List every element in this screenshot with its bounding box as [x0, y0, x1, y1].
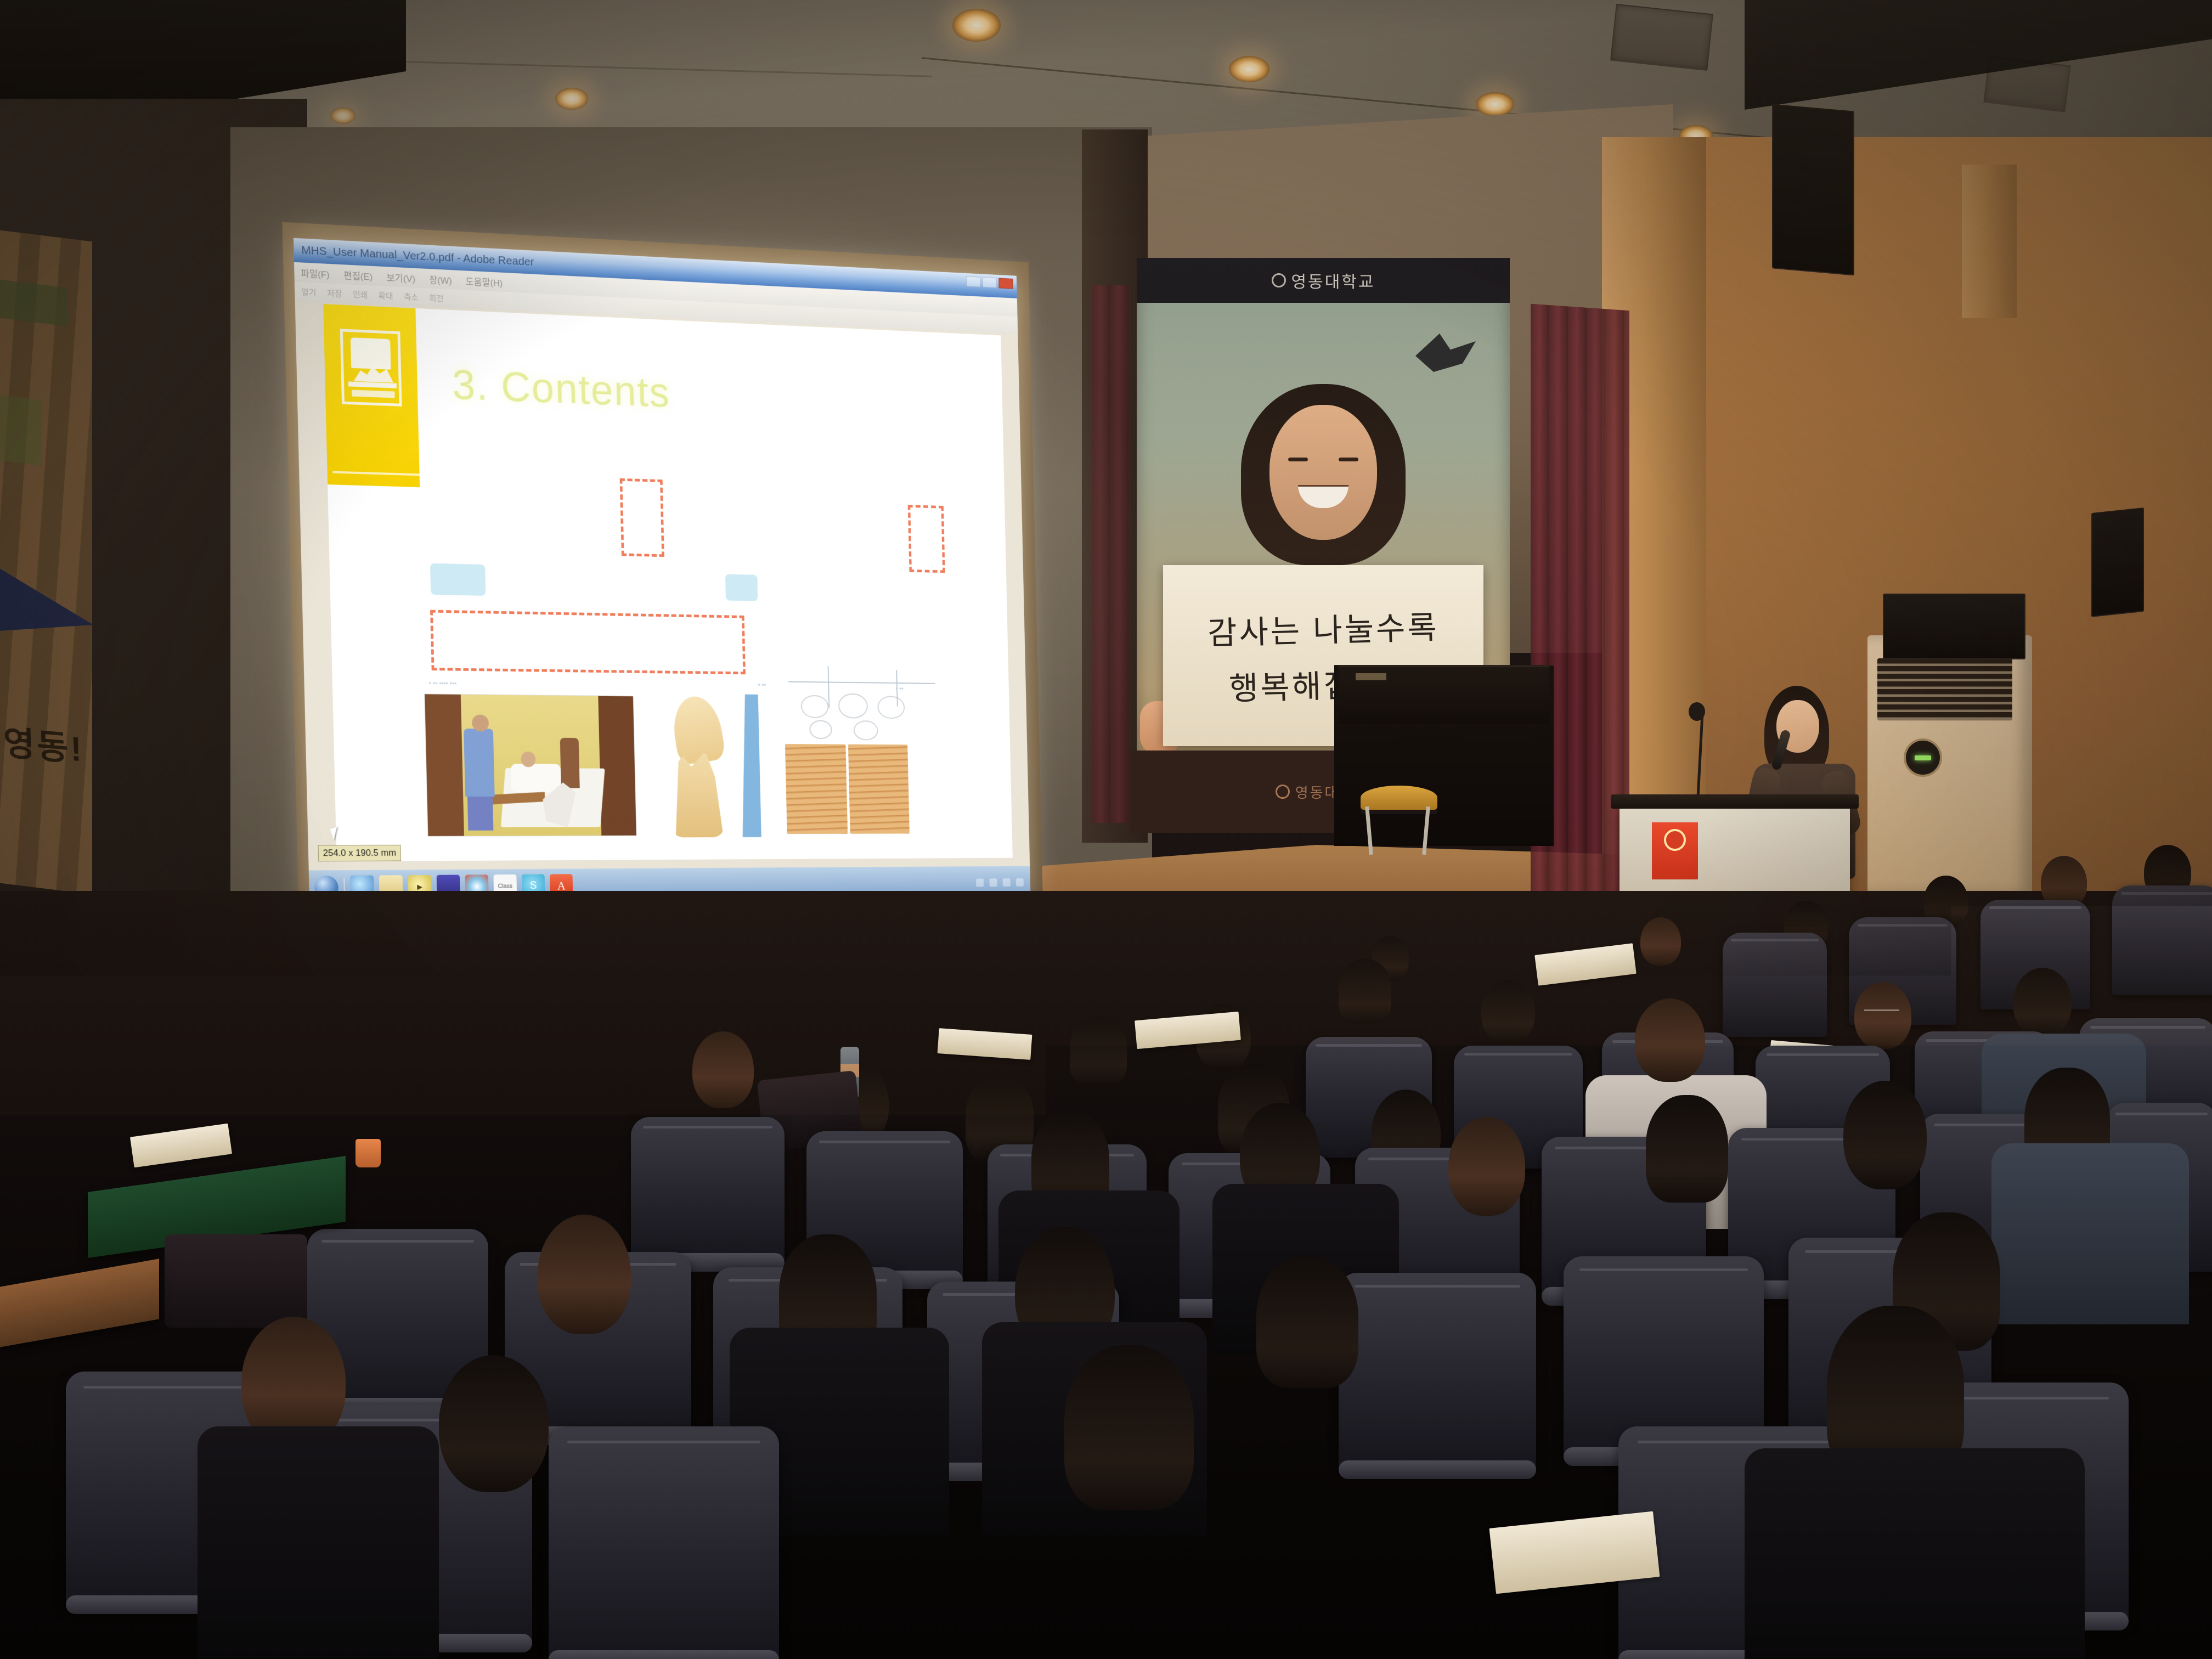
mosaic-label: 영동! [2, 715, 84, 771]
row-body-video: Skill 별 절차 수행과 관련한 동영상 플래시 자료 제공 [515, 859, 842, 861]
audience-head [1646, 1095, 1728, 1203]
banner-university-name: 영동대학교 [1291, 268, 1375, 292]
piano-brand-badge [1356, 673, 1386, 680]
row-label-video: 영상 학습 [435, 861, 498, 862]
ceiling-air-vent [1610, 4, 1713, 71]
toolbar-open-button[interactable]: 열기 [301, 286, 317, 298]
stage-curtain-left [1092, 285, 1130, 823]
ceiling-speaker [1772, 104, 1854, 275]
shield-icon[interactable] [1003, 878, 1011, 887]
menu-item-help[interactable]: 도움말(H) [465, 274, 503, 289]
audience-shoulders [198, 1426, 439, 1659]
ac-display-panel [1904, 738, 1942, 777]
audience-seat[interactable] [631, 1117, 785, 1265]
slide-subcaption: ▪ ▪▪ ▪▪▪▪ ▪▪▪ [428, 679, 456, 687]
audience-head [1070, 1016, 1127, 1086]
blue-highlight-right [725, 574, 758, 601]
audience-seat[interactable] [2112, 885, 2212, 995]
page-size-tooltip: 254.0 x 190.5 mm [318, 845, 401, 861]
window-controls [966, 276, 1013, 289]
menu-item-view[interactable]: 보기(V) [386, 270, 415, 285]
podium-surface [1611, 794, 1859, 809]
slide-title: 3. Contents [452, 360, 670, 417]
blue-highlight-left [430, 563, 486, 596]
university-mark-icon [1276, 785, 1290, 799]
dash-box-center [620, 478, 664, 557]
ceiling-downlight [952, 9, 1001, 42]
diagram-label-a: ▪ ▪▪ [758, 681, 766, 689]
wall-recess-dark [1883, 594, 2025, 659]
volume-icon[interactable] [989, 878, 997, 887]
menu-item-window[interactable]: 창(W) [429, 272, 452, 287]
screen-surface: MHS_User Manual_Ver2.0.pdf - Adobe Reade… [294, 238, 1031, 904]
paper-cup[interactable] [356, 1139, 381, 1167]
banner-sign-line-1: 감사는 나눌수록 [1207, 601, 1440, 653]
banner-person-eye [1288, 458, 1308, 461]
menu-item-edit[interactable]: 편집(E) [343, 268, 373, 283]
audience-seat[interactable] [549, 1426, 779, 1659]
audience-head [692, 1031, 754, 1108]
ceiling-downlight [555, 88, 588, 110]
projection-screen: MHS_User Manual_Ver2.0.pdf - Adobe Reade… [282, 222, 1043, 930]
ceiling-downlight [330, 108, 356, 124]
banner-person-face [1269, 405, 1377, 540]
audience-striped-shirt [971, 1481, 1278, 1659]
banner-person-smile [1298, 485, 1348, 508]
system-tray [976, 878, 1030, 887]
piano-lid [1339, 666, 1549, 724]
maximize-button[interactable] [983, 277, 997, 288]
audience-head [1481, 980, 1535, 1043]
slide-brand-panel [323, 304, 420, 487]
ac-vent-grill [1877, 658, 2012, 720]
finger-anatomy-illustration [668, 693, 761, 837]
audience-head [2013, 968, 2072, 1037]
audience-head [1635, 998, 1705, 1082]
podium-emblem-seal-icon [1664, 829, 1686, 851]
toolbar-zoomout-button[interactable]: 축소 [404, 291, 419, 303]
audience-head [1256, 1256, 1358, 1388]
wall-pillar-right [1962, 165, 2017, 318]
toolbar-print-button[interactable]: 인쇄 [353, 288, 368, 300]
clock-icon[interactable] [1016, 878, 1024, 886]
pdf-page: 3. Contents ▪ ▪▪ ▪▪▪▪ ▪▪▪ ▪ ▪▪ ▪ ▪▪ [323, 304, 1013, 861]
video-frame [425, 694, 636, 836]
banner-person-eye [1339, 458, 1358, 461]
audience-shoulders [1745, 1448, 2085, 1659]
wall-mosaic-artwork: 영동! [0, 230, 92, 895]
dash-box-right [908, 505, 945, 573]
ac-led-indicator [1915, 755, 1931, 760]
video-thumbnail[interactable]: Mosby's Nursing Skills video clip [425, 694, 636, 836]
audience-seat[interactable] [1723, 933, 1827, 1037]
audience-head [1448, 1117, 1525, 1216]
bag[interactable] [165, 1234, 307, 1328]
toolbar-save-button[interactable]: 저장 [327, 287, 342, 299]
network-icon[interactable] [976, 878, 984, 887]
tissue-sample-right [848, 744, 909, 834]
audience-head [1640, 917, 1681, 966]
ceiling-downlight [1229, 56, 1269, 82]
toolbar-zoomin-button[interactable]: 확대 [378, 290, 393, 302]
mic-stand-head [1689, 702, 1705, 721]
audience-head [1339, 959, 1391, 1024]
dash-box-wide [430, 610, 746, 675]
tissue-sample-left [785, 744, 848, 834]
lecture-hall-scene: 영동! 영동대학교 감사는 나눌수록 행복해집니다 영동대학교 [0, 0, 2212, 1659]
audience-shoulders-denim [1991, 1143, 2189, 1324]
banner-header: 영동대학교 [1137, 258, 1510, 303]
university-mark-icon [1272, 273, 1286, 287]
menu-item-file[interactable]: 파일(F) [301, 266, 330, 281]
audience-seat[interactable] [1339, 1273, 1536, 1472]
bird-logo-icon [1415, 334, 1476, 372]
audience-head [538, 1215, 631, 1334]
ceiling-downlight [1476, 92, 1514, 116]
podium-emblem [1652, 822, 1698, 879]
elsevier-logo-icon [340, 329, 402, 406]
floor-air-conditioner [1867, 635, 2032, 893]
eyeglasses [1864, 1009, 1899, 1018]
toolbar-rotate-button[interactable]: 회전 [429, 292, 444, 304]
audience-head [439, 1355, 549, 1492]
close-button[interactable] [998, 278, 1013, 289]
minimize-button[interactable] [966, 276, 981, 287]
audience-head [1843, 1081, 1927, 1189]
tissue-sample-images [785, 744, 910, 834]
wall-speaker [2091, 507, 2144, 617]
